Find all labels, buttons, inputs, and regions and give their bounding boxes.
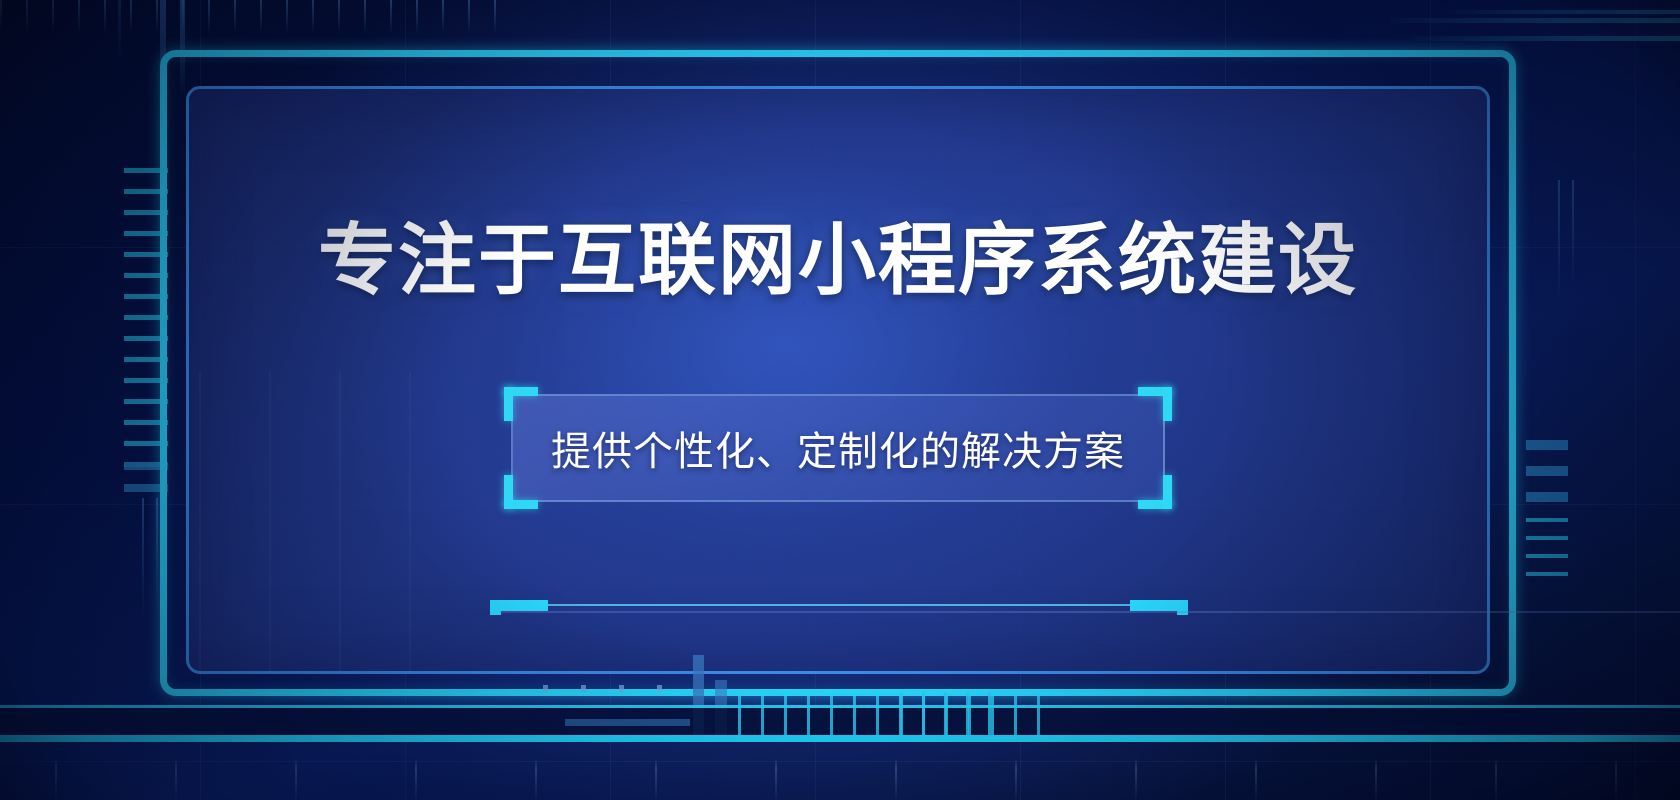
left-ladder-bars-decoration (124, 168, 168, 468)
right-ladder-bars-thin-decoration (1526, 518, 1568, 588)
bottom-tick-marks-right (900, 692, 1000, 735)
bottom-short-bar-decoration (715, 680, 727, 735)
bottom-dark-band (0, 708, 1680, 735)
left-vertical-lines-decoration (140, 498, 166, 618)
bottom-low-bar-decoration (565, 719, 690, 726)
right-horizontal-lines-decoration (1380, 4, 1680, 52)
bottom-edge-tick-marks (0, 758, 1680, 800)
left-ladder-bars-thick-decoration (124, 462, 168, 492)
bottom-dot-row-decoration (543, 685, 675, 692)
bottom-scan-line-thin (0, 705, 1680, 708)
right-vertical-lines-decoration (1558, 180, 1588, 300)
vertical-bar-decoration-3 (118, 0, 121, 60)
inner-panel-frame (186, 86, 1490, 674)
right-dot-column-decoration (1509, 168, 1515, 453)
vertical-bar-decoration-2 (180, 0, 185, 98)
banner-stage: 专注于互联网小程序系统建设 提供个性化、定制化的解决方案 (0, 0, 1680, 800)
vertical-bar-decoration-1 (160, 0, 166, 110)
right-ladder-bars-decoration (1526, 440, 1568, 512)
bottom-tick-marks-center (738, 696, 1058, 735)
panel-glow (189, 89, 1487, 671)
panel-streak-decoration (199, 371, 459, 671)
bottom-scan-line-thick (0, 735, 1680, 742)
top-tick-marks-decoration (0, 0, 520, 34)
